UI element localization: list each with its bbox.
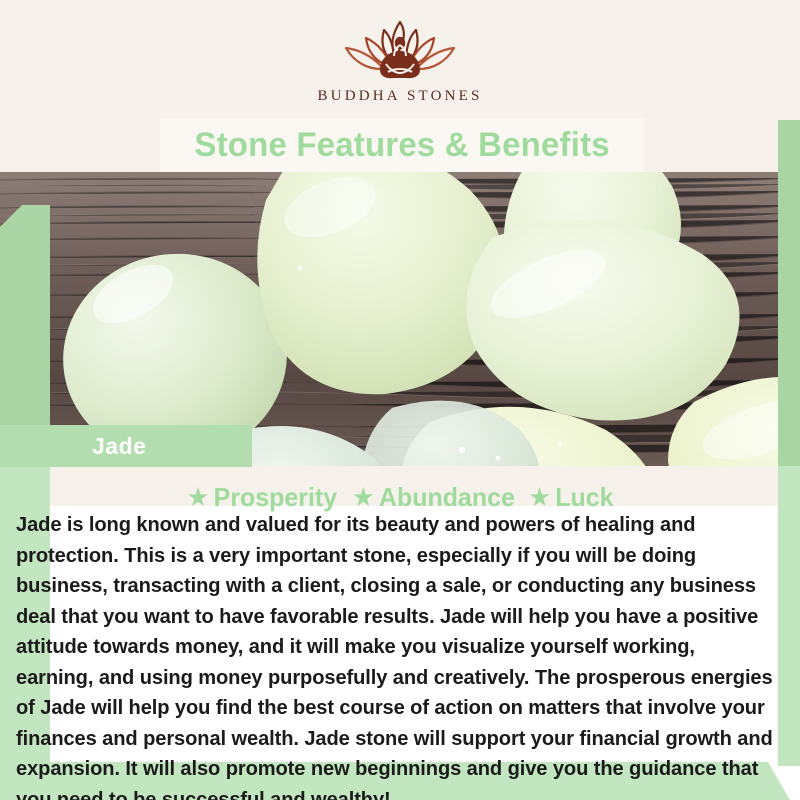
star-icon: ★ <box>188 486 208 509</box>
benefit-abundance: ★ Abundance <box>353 482 514 513</box>
stone-name: Jade <box>92 433 146 460</box>
stone-info-poster: BUDDHA STONES Stone Features & Benefits … <box>0 0 800 800</box>
stone-description: Jade is long known and valued for its be… <box>16 510 774 800</box>
stone-name-band: Jade <box>0 425 252 467</box>
star-icon: ★ <box>353 486 373 509</box>
benefits-row: ★ Prosperity ★ Abundance ★ Luck <box>0 481 800 513</box>
page-title: Stone Features & Benefits <box>194 126 609 165</box>
star-icon: ★ <box>530 486 550 509</box>
brand-wordmark: BUDDHA STONES <box>317 88 482 105</box>
lotus-meditation-icon <box>326 18 474 84</box>
benefit-prosperity: ★ Prosperity <box>188 482 337 513</box>
benefit-label: Abundance <box>379 482 515 513</box>
title-banner: Stone Features & Benefits <box>160 118 644 172</box>
jade-tumbled-stones-photo <box>0 172 800 466</box>
benefit-label: Prosperity <box>213 482 336 513</box>
brand-header: BUDDHA STONES <box>0 0 800 120</box>
benefit-label: Luck <box>555 482 613 513</box>
benefit-luck: ★ Luck <box>530 482 614 513</box>
brand-logo: BUDDHA STONES <box>317 18 482 105</box>
